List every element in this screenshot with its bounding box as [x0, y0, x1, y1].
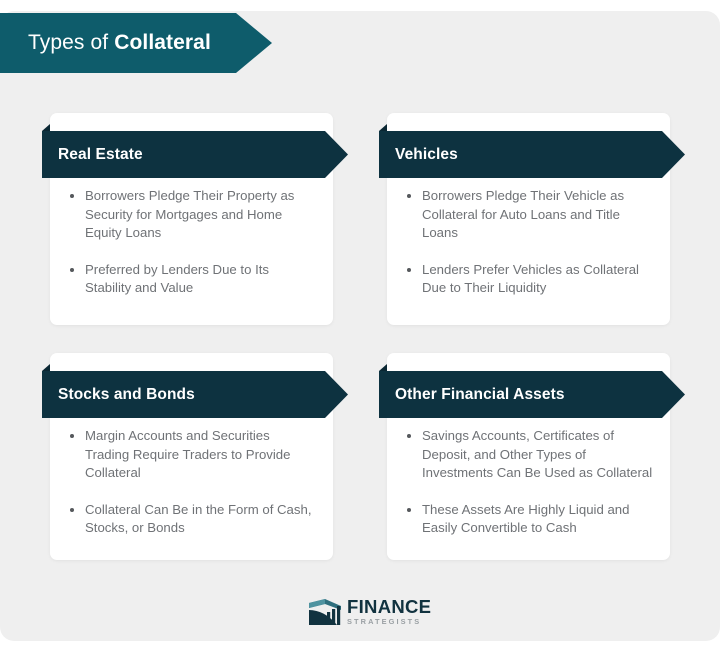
list-item-text: Borrowers Pledge Their Property as Secur… — [85, 188, 294, 240]
list-item-text: Margin Accounts and Securities Trading R… — [85, 428, 290, 480]
list-item: Savings Accounts, Certificates of Deposi… — [399, 427, 654, 483]
card-header-stocks-and-bonds: Stocks and Bonds — [42, 371, 348, 418]
card-title: Vehicles — [395, 131, 458, 178]
list-item: Lenders Prefer Vehicles as Collateral Du… — [399, 261, 654, 298]
bullet-dot-icon — [70, 268, 74, 272]
card-header-real-estate: Real Estate — [42, 131, 348, 178]
list-item: Borrowers Pledge Their Property as Secur… — [62, 187, 317, 243]
card-other-financial-assets: Other Financial Assets Savings Accounts,… — [387, 353, 670, 560]
bullet-dot-icon — [70, 434, 74, 438]
list-item-text: Lenders Prefer Vehicles as Collateral Du… — [422, 262, 639, 296]
card-stocks-and-bonds: Stocks and Bonds Margin Accounts and Sec… — [50, 353, 333, 560]
brand-wordmark: FINANCE STRATEGISTS — [347, 598, 431, 626]
list-item-text: These Assets Are Highly Liquid and Easil… — [422, 502, 629, 536]
card-header-vehicles: Vehicles — [379, 131, 685, 178]
brand-tagline: STRATEGISTS — [347, 617, 431, 626]
card-real-estate: Real Estate Borrowers Pledge Their Prope… — [50, 113, 333, 325]
list-item-text: Borrowers Pledge Their Vehicle as Collat… — [422, 188, 624, 240]
card-title: Other Financial Assets — [395, 371, 565, 418]
list-item: These Assets Are Highly Liquid and Easil… — [399, 501, 654, 538]
list-item-text: Collateral Can Be in the Form of Cash, S… — [85, 502, 312, 536]
list-item: Collateral Can Be in the Form of Cash, S… — [62, 501, 317, 538]
card-bullet-list: Savings Accounts, Certificates of Deposi… — [399, 427, 654, 538]
card-header-other-financial-assets: Other Financial Assets — [379, 371, 685, 418]
bullet-dot-icon — [70, 508, 74, 512]
card-title: Stocks and Bonds — [58, 371, 195, 418]
infographic-canvas: Types of Collateral Real Estate Borrower… — [0, 0, 720, 652]
card-bullet-list: Borrowers Pledge Their Vehicle as Collat… — [399, 187, 654, 298]
card-bullet-list: Margin Accounts and Securities Trading R… — [62, 427, 317, 538]
page-title: Types of Collateral — [28, 13, 211, 73]
card-vehicles: Vehicles Borrowers Pledge Their Vehicle … — [387, 113, 670, 325]
page-title-light: Types of — [28, 31, 108, 55]
bullet-dot-icon — [70, 194, 74, 198]
bullet-dot-icon — [407, 268, 411, 272]
bullet-dot-icon — [407, 194, 411, 198]
bar-chart-arrow-icon — [307, 597, 342, 627]
page-title-ribbon: Types of Collateral — [0, 13, 272, 73]
list-item-text: Preferred by Lenders Due to Its Stabilit… — [85, 262, 269, 296]
bullet-dot-icon — [407, 434, 411, 438]
card-bullet-list: Borrowers Pledge Their Property as Secur… — [62, 187, 317, 298]
bullet-dot-icon — [407, 508, 411, 512]
list-item: Borrowers Pledge Their Vehicle as Collat… — [399, 187, 654, 243]
list-item-text: Savings Accounts, Certificates of Deposi… — [422, 428, 652, 480]
card-title: Real Estate — [58, 131, 143, 178]
brand-name: FINANCE — [347, 598, 431, 616]
page-title-bold: Collateral — [114, 31, 211, 55]
list-item: Preferred by Lenders Due to Its Stabilit… — [62, 261, 317, 298]
brand-logo: FINANCE STRATEGISTS — [307, 595, 429, 628]
list-item: Margin Accounts and Securities Trading R… — [62, 427, 317, 483]
